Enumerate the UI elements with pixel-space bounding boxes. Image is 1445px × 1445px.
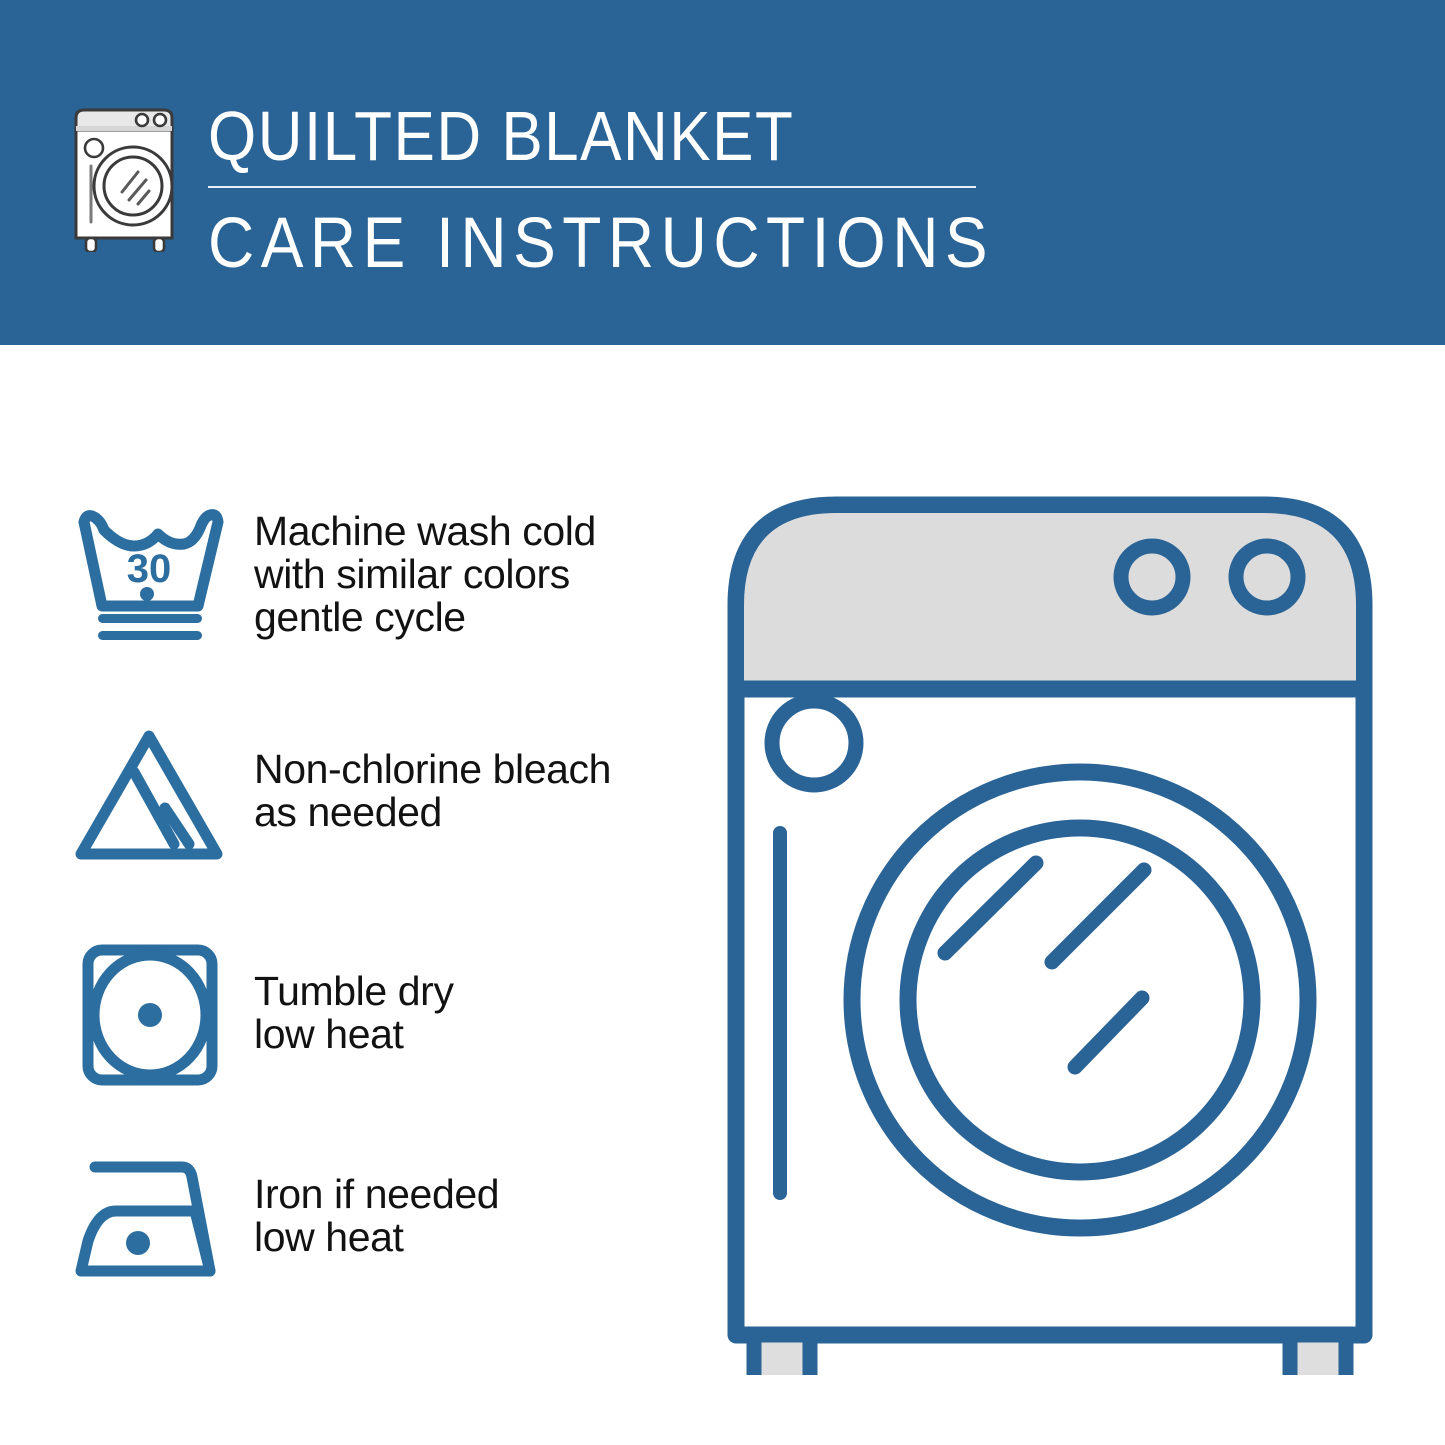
care-text-line: Machine wash cold <box>254 510 690 553</box>
care-item-label-bleach: Non-chlorine bleach as needed <box>230 720 690 834</box>
care-item-tumble-dry: Tumble dry low heat <box>70 940 690 1090</box>
care-item-label-iron: Iron if needed low heat <box>230 1145 690 1259</box>
care-text-line: with similar colors <box>254 553 690 596</box>
leg-left <box>754 1335 810 1375</box>
iron-low-heat-icon <box>70 1145 230 1295</box>
leg-right <box>1290 1335 1346 1375</box>
front-load-washing-machine-illustration <box>700 445 1400 1375</box>
page-header: QUILTED BLANKET CARE INSTRUCTIONS <box>0 0 1445 345</box>
care-text-line: gentle cycle <box>254 596 690 639</box>
page-title: QUILTED BLANKET <box>208 96 1208 179</box>
page-subtitle: CARE INSTRUCTIONS <box>208 200 1208 285</box>
care-item-label-machine-wash: Machine wash cold with similar colors ge… <box>230 500 690 639</box>
care-instructions-page: QUILTED BLANKET CARE INSTRUCTIONS 30 <box>0 0 1445 1445</box>
wash-temperature-value: 30 <box>127 547 172 591</box>
non-chlorine-bleach-triangle-icon <box>70 720 230 870</box>
care-text-line: low heat <box>254 1216 690 1259</box>
washing-machine-logo-icon <box>64 100 190 252</box>
care-text-line: low heat <box>254 1013 690 1056</box>
care-text-line: Tumble dry <box>254 970 690 1013</box>
care-instruction-list: 30 Machine wash cold with similar colors… <box>0 345 700 1445</box>
header-text-block: QUILTED BLANKET CARE INSTRUCTIONS <box>208 96 1208 276</box>
care-text-line: Non-chlorine bleach <box>254 748 690 791</box>
care-item-machine-wash: 30 Machine wash cold with similar colors… <box>70 500 690 650</box>
care-text-line: Iron if needed <box>254 1173 690 1216</box>
title-divider <box>208 186 976 188</box>
control-panel <box>744 513 1356 683</box>
machine-wash-30-icon: 30 <box>70 500 230 650</box>
care-item-iron: Iron if needed low heat <box>70 1145 690 1295</box>
care-item-label-tumble-dry: Tumble dry low heat <box>230 940 690 1056</box>
care-item-bleach: Non-chlorine bleach as needed <box>70 720 690 870</box>
care-text-line: as needed <box>254 791 690 834</box>
tumble-dry-low-icon <box>70 940 230 1090</box>
main-content: 30 Machine wash cold with similar colors… <box>0 345 1445 1445</box>
